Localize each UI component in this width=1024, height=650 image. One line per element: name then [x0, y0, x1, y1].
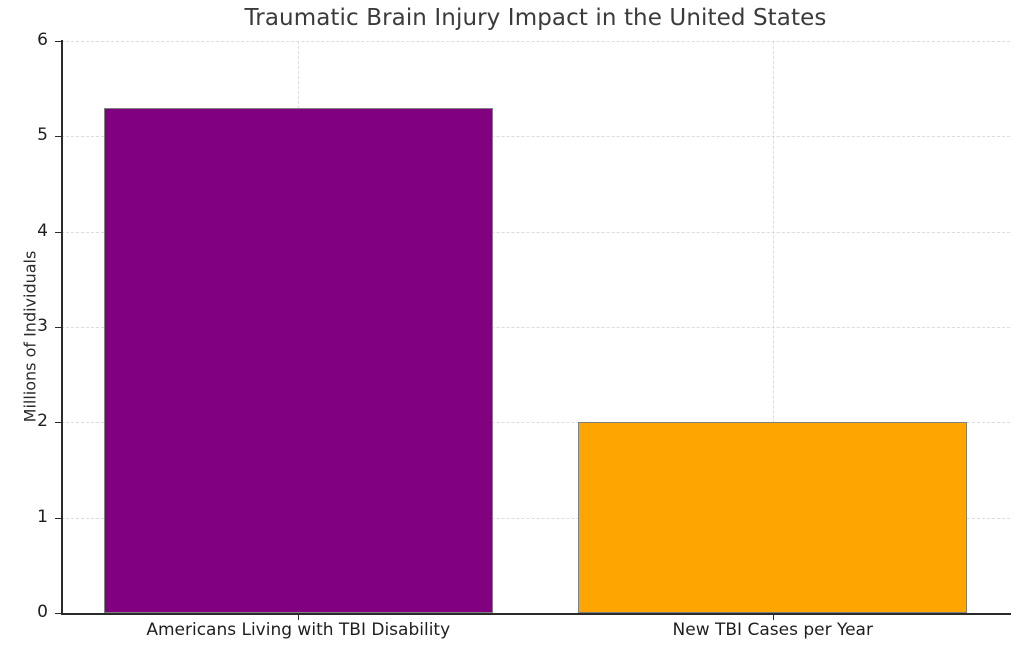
y-tick-label: 0 — [8, 604, 48, 621]
chart-figure: Traumatic Brain Injury Impact in the Uni… — [0, 0, 1024, 650]
y-tick-mark — [55, 136, 62, 137]
bar-2[interactable] — [578, 422, 967, 613]
y-tick-mark — [55, 518, 62, 519]
chart-title: Traumatic Brain Injury Impact in the Uni… — [61, 4, 1010, 32]
bar-1[interactable] — [104, 108, 493, 613]
y-tick-label: 6 — [8, 32, 48, 49]
y-tick-label: 4 — [8, 223, 48, 240]
x-axis-spine — [61, 613, 1011, 615]
y-tick-label: 3 — [8, 318, 48, 335]
plot-area — [61, 41, 1010, 613]
x-tick-label: New TBI Cases per Year — [523, 621, 1023, 640]
y-gridline — [61, 41, 1010, 42]
y-tick-mark — [55, 232, 62, 233]
y-tick-label: 2 — [8, 413, 48, 430]
y-tick-label: 5 — [8, 127, 48, 144]
y-tick-mark — [55, 41, 62, 42]
y-tick-label: 1 — [8, 509, 48, 526]
y-tick-mark — [55, 327, 62, 328]
y-tick-mark — [55, 422, 62, 423]
x-tick-label: Americans Living with TBI Disability — [48, 621, 548, 640]
y-tick-mark — [55, 613, 62, 614]
